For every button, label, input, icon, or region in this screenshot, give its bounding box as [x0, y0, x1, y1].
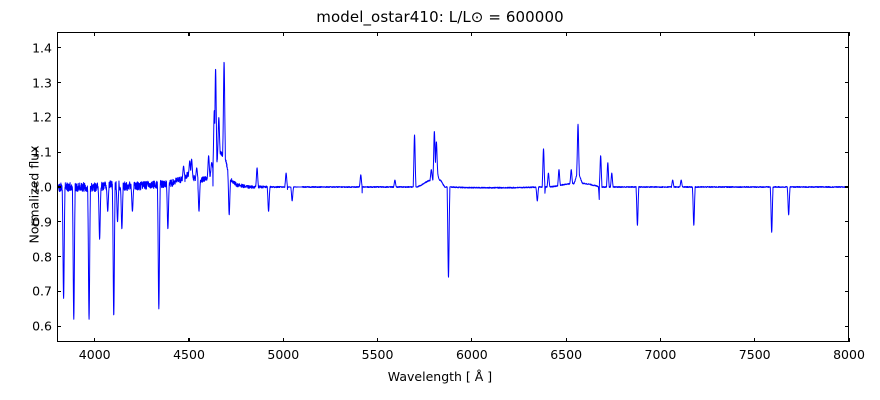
x-tick-label: 5500 — [362, 347, 394, 362]
x-tick-mark — [94, 338, 95, 342]
y-tick-label: 1.1 — [32, 145, 52, 160]
y-tick-mark — [57, 256, 61, 257]
y-tick-mark — [57, 152, 61, 153]
y-tick-mark — [57, 326, 61, 327]
x-tick-mark — [471, 338, 472, 342]
figure-canvas: model_ostar410: L/L⊙ = 600000 Normalized… — [0, 0, 880, 400]
x-tick-mark — [377, 32, 378, 36]
x-tick-label: 5000 — [267, 347, 299, 362]
y-tick-mark — [845, 326, 849, 327]
y-tick-label: 1.3 — [32, 75, 52, 90]
y-tick-mark — [845, 117, 849, 118]
x-tick-mark — [188, 338, 189, 342]
plot-axes: 0.60.70.80.91.01.11.21.31.44000450050005… — [57, 32, 849, 342]
x-tick-label: 4000 — [79, 347, 111, 362]
x-tick-mark — [848, 32, 849, 36]
x-tick-label: 6500 — [550, 347, 582, 362]
x-tick-mark — [471, 32, 472, 36]
x-tick-mark — [660, 338, 661, 342]
page-title: model_ostar410: L/L⊙ = 600000 — [0, 8, 880, 26]
y-tick-mark — [57, 186, 61, 187]
y-tick-mark — [845, 186, 849, 187]
y-tick-label: 1.4 — [32, 40, 52, 55]
x-tick-mark — [754, 32, 755, 36]
y-tick-mark — [57, 47, 61, 48]
x-tick-mark — [848, 338, 849, 342]
x-tick-mark — [94, 32, 95, 36]
x-tick-label: 7000 — [645, 347, 677, 362]
x-axis-label: Wavelength [ Å ] — [0, 369, 880, 384]
y-tick-mark — [845, 47, 849, 48]
y-tick-label: 0.9 — [32, 214, 52, 229]
x-tick-label: 8000 — [833, 347, 865, 362]
y-tick-label: 0.7 — [32, 284, 52, 299]
y-tick-mark — [845, 152, 849, 153]
x-tick-mark — [660, 32, 661, 36]
x-tick-mark — [283, 338, 284, 342]
x-tick-label: 7500 — [739, 347, 771, 362]
y-tick-mark — [845, 82, 849, 83]
y-tick-label: 1.0 — [32, 180, 52, 195]
y-tick-mark — [845, 256, 849, 257]
x-tick-mark — [754, 338, 755, 342]
y-tick-mark — [57, 117, 61, 118]
spectrum-line-series — [57, 32, 849, 342]
x-tick-mark — [283, 32, 284, 36]
x-tick-label: 4500 — [173, 347, 205, 362]
x-tick-mark — [566, 32, 567, 36]
y-tick-mark — [57, 291, 61, 292]
y-tick-mark — [845, 291, 849, 292]
y-tick-label: 0.6 — [32, 319, 52, 334]
y-tick-label: 1.2 — [32, 110, 52, 125]
x-tick-mark — [188, 32, 189, 36]
x-tick-label: 6000 — [456, 347, 488, 362]
x-tick-mark — [566, 338, 567, 342]
y-tick-mark — [845, 221, 849, 222]
y-tick-mark — [57, 82, 61, 83]
y-tick-mark — [57, 221, 61, 222]
x-tick-mark — [377, 338, 378, 342]
y-tick-label: 0.8 — [32, 249, 52, 264]
